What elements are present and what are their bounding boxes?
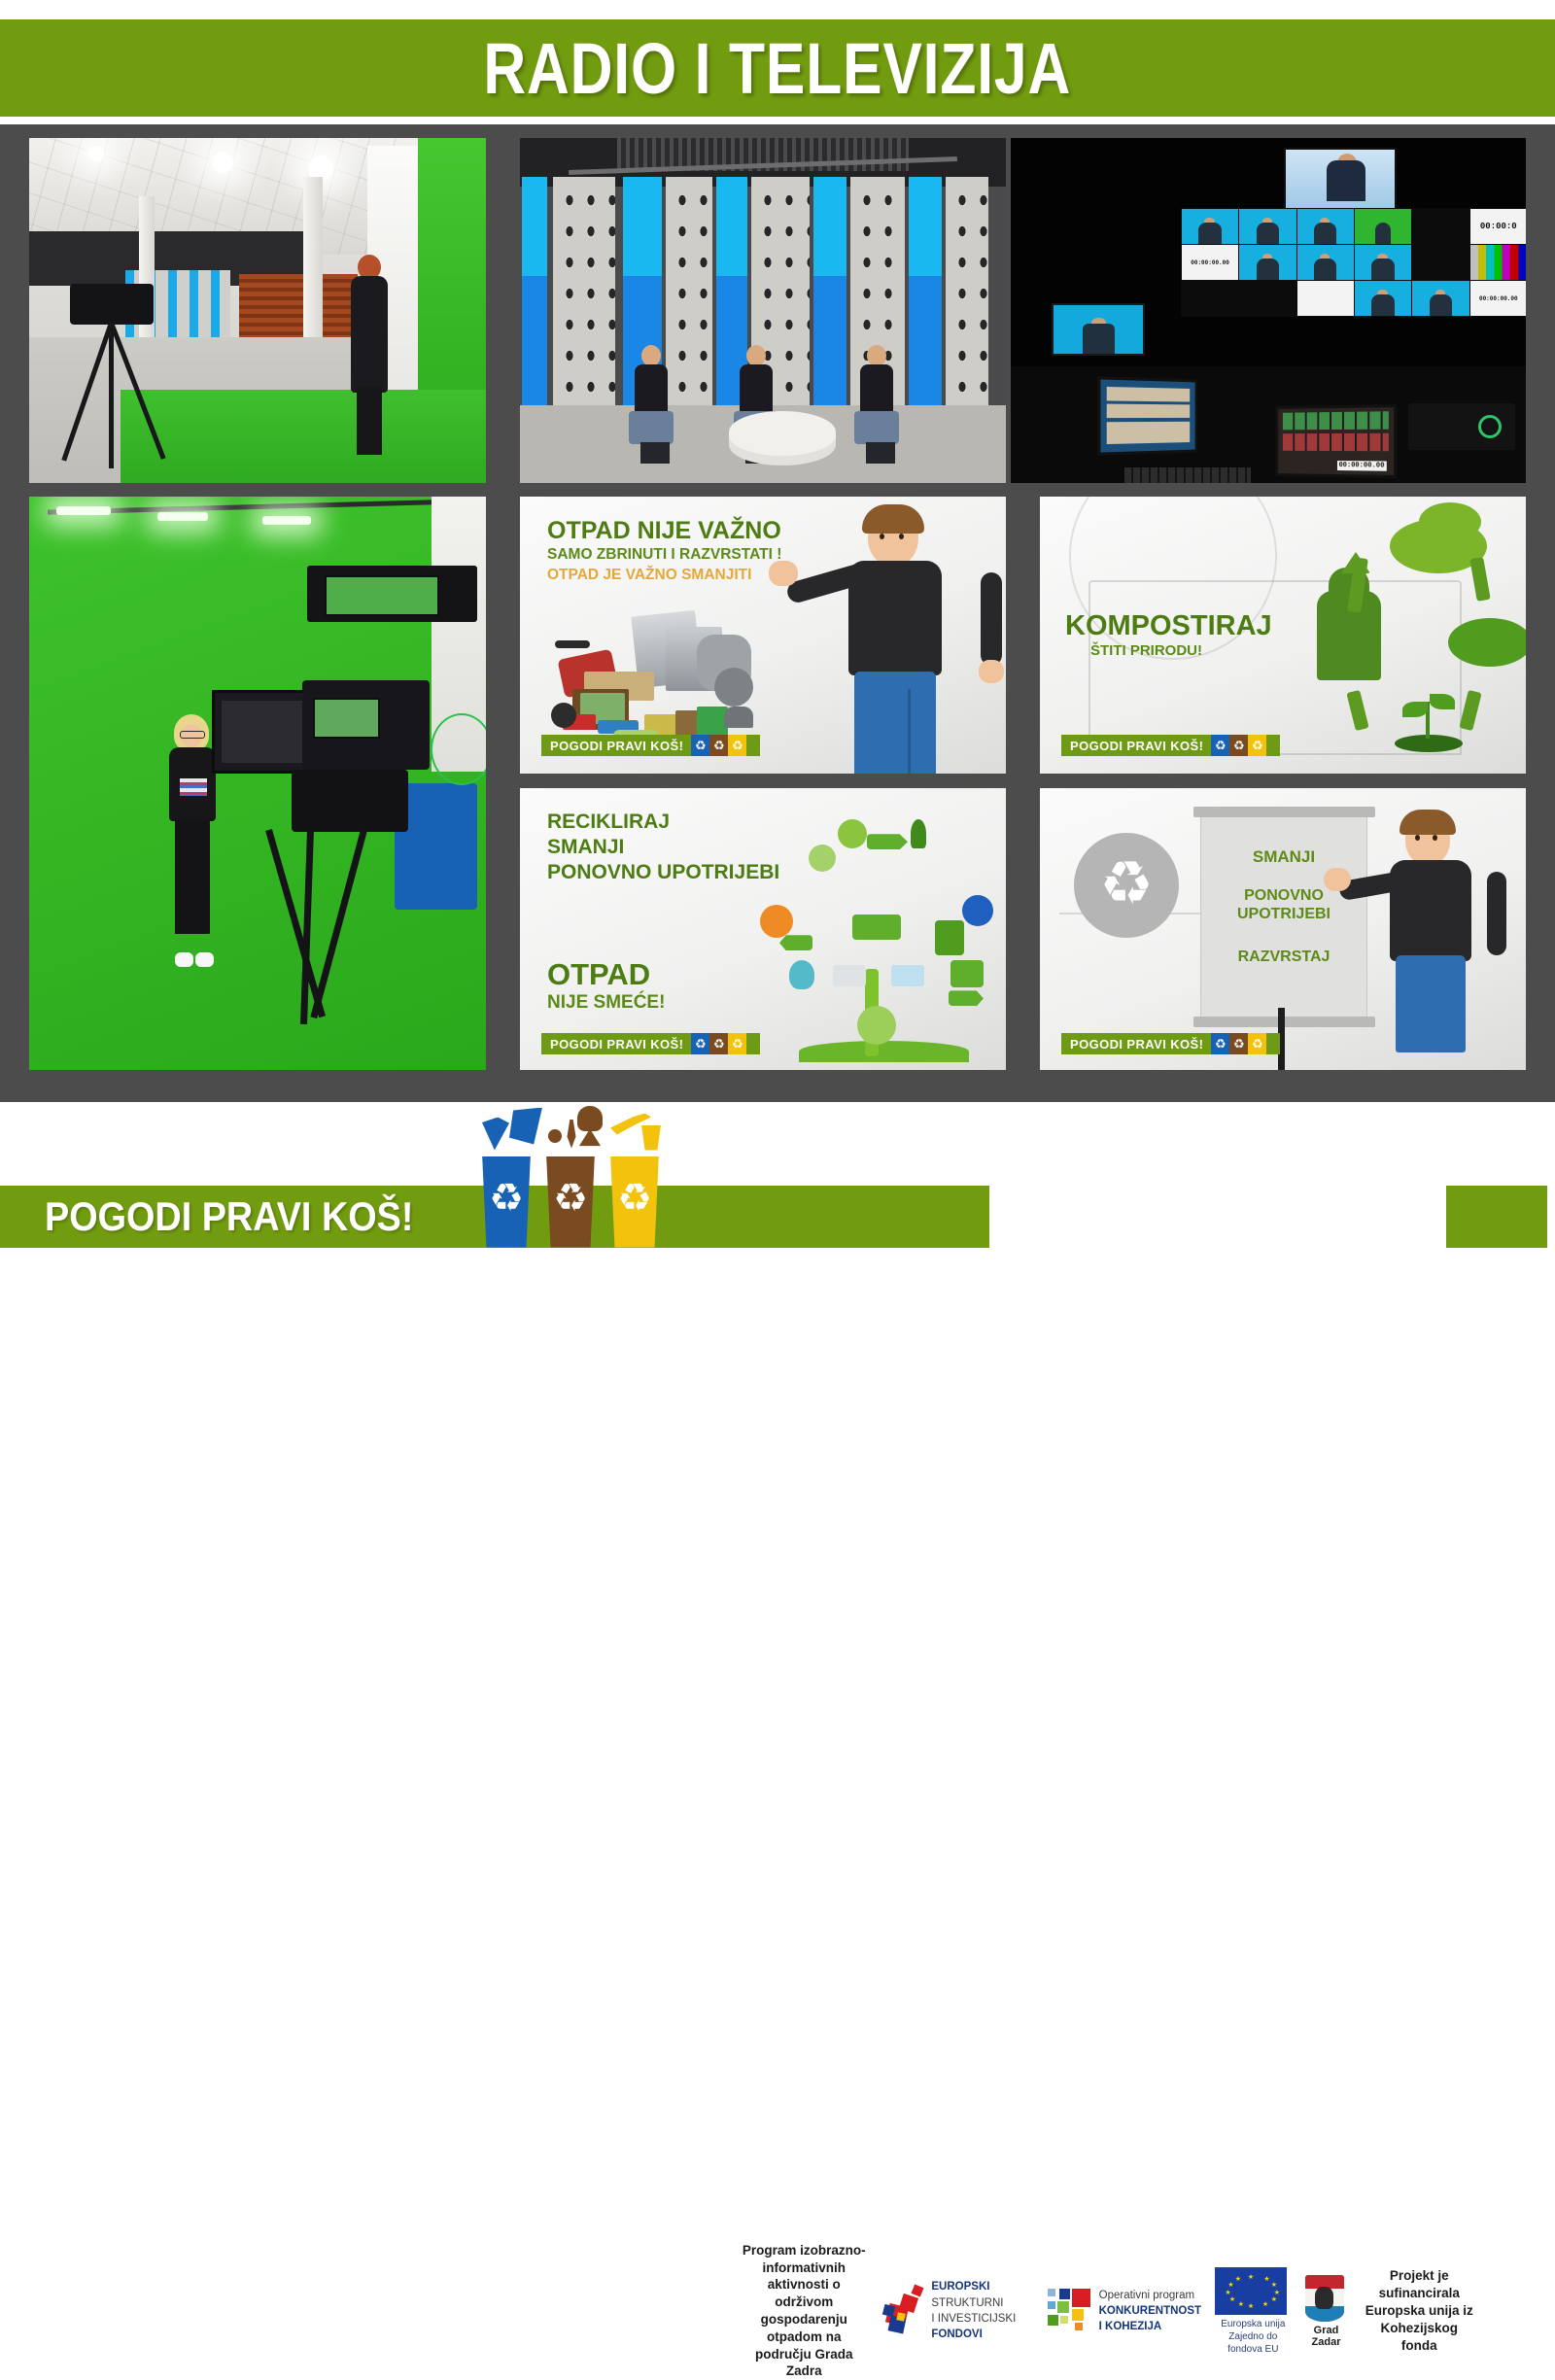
campaign-logo-label: POGODI PRAVI KOŠ! [541,735,691,756]
bin-blue-paper: ♻ [480,1156,533,1248]
lightbulb-icon [838,819,867,848]
recycling-bins-icon: ♻ ♻ ♻ [1211,735,1266,756]
cycle-arrow-down [1469,557,1490,602]
camera-pedestal-head [292,770,408,832]
anim1-subline: SAMO ZBRINUTI I RAZVRSTATI ! [547,546,839,564]
bin-yellow-plastic: ♻ [608,1156,661,1248]
tripod-leg [265,829,326,1018]
keyboard[interactable] [1124,467,1251,483]
green-screen-floor [121,390,486,483]
multiviewer-tile [1297,245,1354,280]
page-title-bar: RADIO I TELEVIZIJA [0,19,1555,117]
logo-strip-tail [1266,1033,1280,1054]
bin-brown-icon: ♻ [709,735,728,756]
animation-frame-smanji-razvrstaj: ♻ SMANJI PONOVNO UPOTRIJEBI RAZVRSTAJ PO… [1040,788,1526,1070]
bin-blue-icon: ♻ [691,1033,709,1054]
bin-blue-icon: ♻ [691,735,709,756]
sign-language-interpreter [349,255,390,449]
organic-waste-icon [548,1129,562,1143]
campaign-slogan: POGODI PRAVI KOŠ! [45,1193,413,1240]
recycling-truck-icon [852,914,901,940]
city-crest-block: Grad Zadar [1305,2275,1348,2348]
set-panel-blue [522,177,547,425]
set-panel-blue [813,177,847,425]
esif-l2t: I INVESTICIJSKI [931,2313,1016,2325]
character-eye [899,534,904,539]
character-eye [1433,835,1437,841]
cycle-arrow [779,935,812,950]
recycle-symbol-badge: ♻ [1074,833,1179,938]
multiviewer-tile [1412,281,1469,316]
grass-icon [799,1041,969,1062]
bin-yellow-icon: ♻ [1248,1033,1266,1054]
studio-chair [629,411,674,444]
program-description: Program izobrazno-informativnih aktivnos… [739,2242,870,2380]
sponsor-logos: Program izobrazno-informativnih aktivnos… [739,2260,1477,2362]
character-legs [854,672,936,774]
animation-frame-kompostiraj: KOMPOSTIRAJ ŠTITI PRIRODU! POGODI PRAVI … [1040,497,1526,774]
photo-green-screen-studio-wide [29,138,486,483]
cofinance-text: Projekt je sufinancirala Europska unija … [1361,2267,1477,2354]
city-label: Grad Zadar [1305,2325,1348,2348]
cycle-arrow [867,834,908,849]
bin-blue-icon: ♻ [1211,735,1229,756]
character-legs [1396,955,1466,1052]
animation-frame-otpad-nije-vazno: OTPAD NIJE VAŽNO SAMO ZBRINUTI I RAZVRST… [520,497,1006,774]
lightbulb-icon [809,845,836,872]
anim2-headline: KOMPOSTIRAJ [1065,611,1272,640]
eu-flag-block: ★ ★ ★ ★ ★ ★ ★ ★ ★ ★ ★ ★ Europska unija Z… [1215,2267,1292,2356]
person-shoe [175,952,193,967]
recycle-badge-blue [962,895,993,926]
campaign-logo-label: POGODI PRAVI KOŠ! [1061,735,1211,756]
op-line-2: KONKURENTNOST [1099,2303,1201,2319]
sign-language-interpreter [166,714,219,967]
board-line-4: RAZVRSTAJ [1201,949,1366,966]
multiviewer-tile [1182,209,1238,244]
multiviewer-tile [1297,209,1354,244]
camera-viewfinder [313,698,380,739]
multiviewer-wall: 00:00:0 00:00:00.00 00:00:00.00 [1181,208,1526,317]
bin-brown-icon: ♻ [709,1033,728,1054]
recycling-bins-icon: ♻ ♻ ♻ [691,735,746,756]
playout-monitor: 00:00:00.00 [1276,404,1398,478]
eu-flag-caption-2: Zajedno do fondova EU [1215,2330,1292,2356]
glasses-icon [180,731,205,739]
character-hair [862,504,924,534]
esif-blocks-icon [883,2286,925,2336]
tripod-leg [109,323,114,468]
anim3-line4: OTPAD [547,959,665,991]
character-hand [1324,868,1351,891]
bin-blue-icon: ♻ [1211,1033,1229,1054]
board-line-1: SMANJI [1201,847,1366,867]
person-legs [175,819,210,934]
multiviewer-tile-off [1182,281,1238,316]
plant-sprout-icon [1395,696,1463,752]
studio-guest [860,345,893,419]
compost-bush-icon [1448,618,1526,667]
tree-icon [911,819,926,848]
plant-leaf [1430,694,1455,709]
character-arm [1487,872,1506,955]
esif-l1t: STRUKTURNI [931,2297,1003,2309]
logo-strip-tail [746,1033,760,1054]
person-body [1327,160,1365,201]
multiviewer-tile [1297,281,1354,316]
bin-brown-organic: ♻ [544,1156,597,1248]
organic-waste-icon [579,1129,601,1151]
paper-book-icon [482,1118,509,1151]
person-legs [357,387,382,455]
person-head [746,345,766,366]
tripod-leg [310,829,367,1018]
esif-label: EUROPSKI STRUKTURNI I INVESTICIJSKI FOND… [931,2279,1033,2342]
op-label: Operativni program KONKURENTNOST I KOHEZ… [1099,2288,1201,2334]
plastic-cup-icon [641,1125,661,1151]
campaign-logo-strip: POGODI PRAVI KOŠ! ♻ ♻ ♻ [1061,735,1280,756]
multiviewer-tile-chroma [1355,209,1411,244]
person-head [867,345,886,366]
anim1-headline: OTPAD NIJE VAŽNO [547,518,839,543]
recycling-cart-icon [950,960,984,987]
set-panel-perforated [946,177,988,425]
paper-icon [833,965,866,986]
studio-coffee-table [729,411,836,466]
recycle-badge-green [857,1006,896,1045]
photo-tv-talk-show-studio [520,138,1006,483]
recycling-tree-illustration [755,804,998,1056]
set-panel-perforated [666,177,712,425]
page-title: RADIO I TELEVIZIJA [484,27,1072,110]
multiviewer-tile [1239,209,1296,244]
recycling-bin-icon [935,920,964,955]
compost-pile-icon [1419,502,1481,541]
bin-brown-icon: ♻ [1229,1033,1248,1054]
bin-yellow-icon: ♻ [1248,735,1266,756]
multiviewer-tile-timecode: 00:00:00.00 [1182,245,1238,280]
anim2-subline: ŠTITI PRIRODU! [1090,642,1272,659]
esif-l1b: EUROPSKI [931,2281,989,2293]
multiviewer-tile-timecode: 00:00:00.00 [1470,281,1526,316]
character-arm [981,572,1002,666]
anim3-line2: SMANJI [547,837,779,858]
op-blocks-icon [1048,2289,1092,2333]
op-konkurentnost-logo: Operativni program KONKURENTNOST I KOHEZ… [1048,2288,1201,2334]
multiviewer-tile-off [1412,245,1469,280]
anim3-line5: NIJE SMEĆE! [547,992,665,1014]
multiviewer-tile [1239,245,1296,280]
character-hand [769,561,798,586]
recycling-bins-icon: ♻ ♻ ♻ [691,1033,746,1054]
wood-slat-wall [239,274,358,346]
multiviewer-tile-timecode: 00:00:0 [1470,209,1526,244]
program-monitor [1284,148,1397,212]
multiviewer-tile-off [1239,281,1296,316]
animation-frame-recikliraj: RECIKLIRAJ SMANJI PONOVNO UPOTRIJEBI OTP… [520,788,1006,1070]
presentation-board: SMANJI PONOVNO UPOTRIJEBI RAZVRSTAJ [1200,813,1367,1018]
footer-green-bar-right [1446,1186,1547,1248]
person-legs [866,442,895,464]
character-hair [1399,810,1456,835]
campaign-logo-strip: POGODI PRAVI KOŠ! ♻ ♻ ♻ [1061,1033,1280,1054]
logo-strip-tail [1266,735,1280,756]
bin-brown-icon: ♻ [1229,735,1248,756]
campaign-logo-strip: POGODI PRAVI KOŠ! ♻ ♻ ♻ [541,735,760,756]
photo-gallery: 00:00:0 00:00:00.00 00:00:00.00 [0,124,1555,1102]
eu-flag-caption-1: Europska unija [1215,2318,1292,2330]
op-line-1: Operativni program [1099,2288,1201,2303]
recycling-bins-icon: ♻ ♻ ♻ [1211,1033,1266,1054]
studio-light-icon [262,516,311,525]
animation-character [1365,810,1510,1052]
paper-icon [891,965,924,986]
animation-character [815,504,1000,774]
set-panel-perforated [553,177,615,425]
operator-monitor [1097,376,1197,455]
op-line-3: I KOHEZIJA [1099,2319,1201,2334]
studio-lamp-icon [212,152,233,173]
anim3-line1: RECIKLIRAJ [547,811,779,833]
camera-tripod [49,284,175,468]
character-eye [880,534,884,539]
video-camera-icon [70,284,154,325]
person-head [641,345,661,366]
studio-camera [212,566,477,1058]
shirt-stripes [180,778,207,796]
cycle-arrow [949,990,984,1006]
tripod-leg [109,322,165,460]
anim3-line3: PONOVNO UPOTRIJEBI [547,862,779,883]
multiviewer-tile-colorbars [1470,245,1526,280]
studio-light-icon [157,512,208,521]
campaign-logo-label: POGODI PRAVI KOŠ! [1061,1033,1211,1054]
studio-host [740,345,773,419]
recycle-badge-orange [760,905,793,938]
multiviewer-tile-off [1412,209,1469,244]
person-legs [640,442,670,464]
recycling-bins-logo: ♻ ♻ ♻ [480,1104,665,1248]
logo-strip-tail [746,735,760,756]
character-hand [979,660,1004,683]
board-top-bar [1193,807,1375,817]
water-drop-icon [789,960,814,989]
board-line-3: UPOTRIJEBI [1201,906,1366,923]
grad-zadar-crest-icon [1305,2275,1344,2322]
tripod-leg [61,322,114,461]
control-panel[interactable] [1408,403,1515,450]
preview-monitor [1052,303,1145,356]
recycle-icon: ♻ [1099,854,1154,914]
studio-lamp-icon [88,146,104,161]
studio-chair [854,411,899,444]
playout-timecode: 00:00:00.00 [1337,461,1387,471]
footer-banner: POGODI PRAVI KOŠ! ♻ ♻ ♻ Program izobrazn… [0,1102,1555,1286]
photo-broadcast-control-room: 00:00:0 00:00:00.00 00:00:00.00 [1011,138,1526,483]
photo-green-screen-studio-camera [29,497,486,1070]
campaign-logo-strip: POGODI PRAVI KOŠ! ♻ ♻ ♻ [541,1033,760,1054]
campaign-logo-label: POGODI PRAVI KOŠ! [541,1033,691,1054]
camera-top-monitor [325,575,439,616]
waste-pile-illustration [551,613,755,740]
broccoli-icon [577,1106,603,1131]
plant-leaf [1402,702,1428,717]
green-cable [431,713,486,785]
bin-yellow-icon: ♻ [728,1033,746,1054]
person-body [351,276,388,393]
newspaper-icon [509,1108,542,1145]
multiviewer-tile [1355,245,1411,280]
esif-l2b: FONDOVI [931,2328,982,2340]
eu-flag-icon: ★ ★ ★ ★ ★ ★ ★ ★ ★ ★ ★ ★ [1215,2267,1287,2315]
esif-logo: EUROPSKI STRUKTURNI I INVESTICIJSKI FOND… [883,2279,1034,2342]
studio-light-icon [56,506,111,515]
character-eye [1415,835,1420,841]
bin-yellow-icon: ♻ [728,735,746,756]
jog-knob[interactable] [1478,415,1502,438]
studio-guest [635,345,668,419]
character-leg-split [908,689,911,774]
set-panel-blue [909,177,942,425]
multiviewer-tile [1355,281,1411,316]
